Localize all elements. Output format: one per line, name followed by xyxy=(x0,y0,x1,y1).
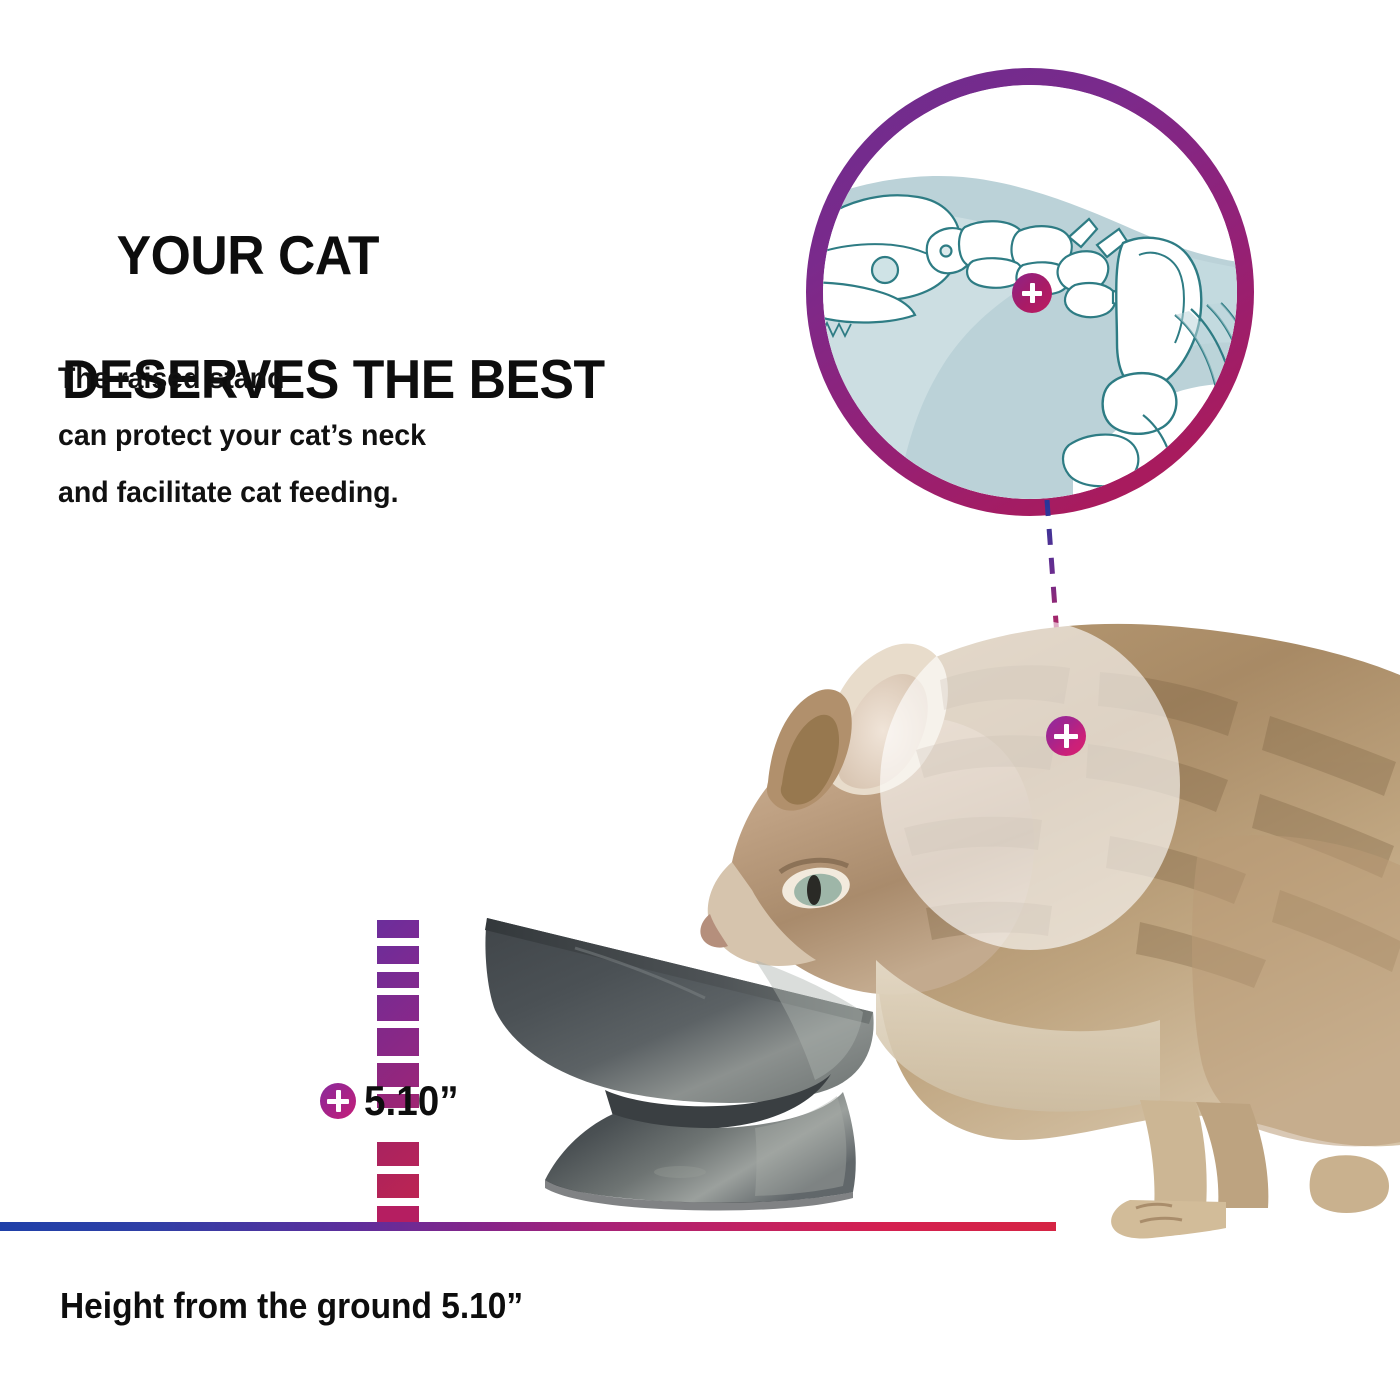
body-line-3: and facilitate cat feeding. xyxy=(58,464,426,521)
body-line-1: The raised stand xyxy=(58,350,426,407)
ground-line xyxy=(0,1222,1056,1231)
neck-plus-marker-icon xyxy=(1046,716,1086,756)
xray-inset xyxy=(806,68,1254,516)
body-copy: The raised stand can protect your cat’s … xyxy=(58,350,426,521)
height-value-badge: 5.10” xyxy=(320,1080,467,1122)
ruler-segment xyxy=(377,1142,419,1166)
ruler-segment xyxy=(377,1028,419,1056)
ruler-segment xyxy=(377,972,419,988)
cat-bowl-product xyxy=(455,900,895,1220)
height-value-label: 5.10” xyxy=(364,1080,459,1122)
plus-badge-icon xyxy=(320,1083,356,1119)
height-ruler xyxy=(377,920,419,1220)
ruler-segment xyxy=(377,946,419,964)
body-line-2: can protect your cat’s neck xyxy=(58,407,426,464)
product-infographic: YOUR CAT DESERVES THE BEST The raised st… xyxy=(0,0,1400,1400)
headline-line-1: YOUR CAT xyxy=(117,224,379,286)
ruler-segment xyxy=(377,920,419,938)
ground-height-caption: Height from the ground 5.10” xyxy=(60,1285,523,1327)
ruler-segment xyxy=(377,1174,419,1198)
ruler-segment xyxy=(377,995,419,1021)
